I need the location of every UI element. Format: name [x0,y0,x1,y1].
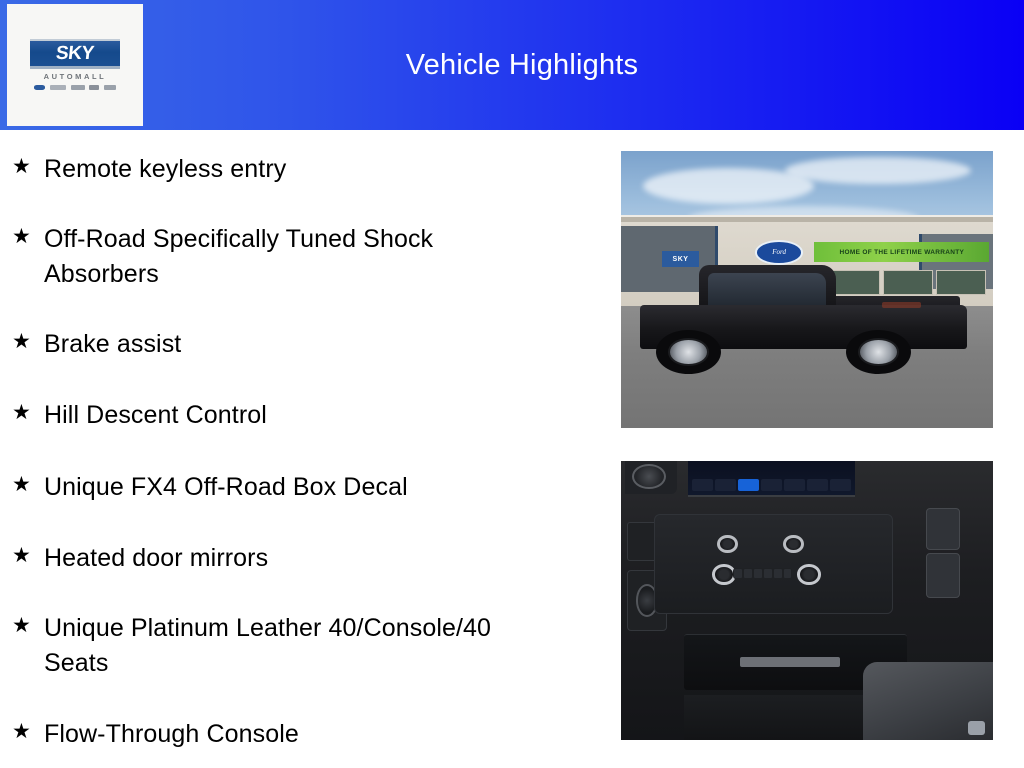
list-item: ★ Remote keyless entry [10,152,570,187]
logo-banner: SKY [30,39,120,66]
list-item-label: Off-Road Specifically Tuned Shock Absorb… [44,222,544,292]
screen-tile [761,479,782,491]
star-bullet-icon: ★ [10,152,44,182]
screen-tile [830,479,851,491]
list-item-label: Flow-Through Console [44,717,299,752]
volume-dial [712,564,736,585]
infotainment-screen [688,461,855,497]
logo-brand-strip [34,84,116,91]
climate-button [754,569,762,578]
auxiliary-switch-lower [926,553,959,598]
list-item-label: Brake assist [44,327,181,362]
seat-badge-icon [968,721,985,735]
list-item: ★ Unique Platinum Leather 40/Console/40 … [10,611,570,681]
auxiliary-switch-upper [926,508,959,550]
truck-rear-wheel [846,330,911,374]
vehicle-interior-photo [621,461,993,740]
list-item-label: Unique Platinum Leather 40/Console/40 Se… [44,611,544,681]
vehicle-exterior-photo: SKY Ford HOME OF THE LIFETIME WARRANTY [621,151,993,428]
logo-inner: SKY AUTOMALL [27,39,123,91]
list-item-label: Unique FX4 Off-Road Box Decal [44,470,408,505]
climate-dial-driver [717,535,738,554]
star-bullet-icon: ★ [10,222,44,252]
star-bullet-icon: ★ [10,327,44,357]
page-title: Vehicle Highlights [0,0,1024,130]
steering-control-knob [632,464,665,489]
ford-oval-label: Ford [757,242,801,263]
climate-control-panel [654,514,892,614]
dealer-logo: SKY AUTOMALL [7,4,143,126]
list-item: ★ Flow-Through Console [10,717,570,752]
list-item-label: Hill Descent Control [44,398,267,433]
brand-mark-jeep-icon [89,85,99,90]
wheel-rim [858,338,899,365]
star-bullet-icon: ★ [10,541,44,571]
tray-divider [740,657,840,667]
brand-mark-ford-icon [34,85,45,90]
screen-tile [692,479,713,491]
brand-mark-chrysler-icon [50,85,66,90]
list-item: ★ Hill Descent Control [10,398,570,433]
tune-dial [797,564,821,585]
truck-window-glass [708,273,826,305]
screen-tile [784,479,805,491]
brand-mark-ram-icon [104,85,116,90]
brand-mark-dodge-icon [71,85,85,90]
ford-oval-icon: Ford [755,240,803,265]
climate-button [744,569,752,578]
fx4-decal [882,302,921,307]
list-item-label: Remote keyless entry [44,152,286,187]
warranty-banner: HOME OF THE LIFETIME WARRANTY [814,242,989,261]
climate-button-strip [733,568,792,579]
wheel-rim [668,338,709,365]
list-item: ★ Off-Road Specifically Tuned Shock Abso… [10,222,570,292]
slide-header: Vehicle Highlights [0,0,1024,130]
climate-button [774,569,782,578]
screen-button-row [688,477,855,493]
screen-tile [807,479,828,491]
climate-button [764,569,772,578]
climate-dial-passenger [783,535,804,554]
logo-wordmark: SKY [55,44,95,63]
truck-front-wheel [656,330,721,374]
logo-subtitle: AUTOMALL [44,72,107,81]
slide: Vehicle Highlights SKY AUTOMALL ★ Remote… [0,0,1024,768]
highlights-list: ★ Remote keyless entry ★ Off-Road Specif… [0,140,600,760]
screen-tile [715,479,736,491]
list-item-label: Heated door mirrors [44,541,268,576]
leather-seat [863,662,993,740]
screen-tile-active [738,479,759,491]
list-item: ★ Heated door mirrors [10,541,570,576]
pickup-truck [640,265,967,370]
star-bullet-icon: ★ [10,470,44,500]
warranty-banner-label: HOME OF THE LIFETIME WARRANTY [840,249,965,256]
list-item: ★ Brake assist [10,327,570,362]
star-bullet-icon: ★ [10,611,44,641]
list-item: ★ Unique FX4 Off-Road Box Decal [10,470,570,505]
star-bullet-icon: ★ [10,398,44,428]
star-bullet-icon: ★ [10,717,44,747]
climate-button [784,569,792,578]
climate-button [734,569,742,578]
cloud-shape [785,157,971,185]
